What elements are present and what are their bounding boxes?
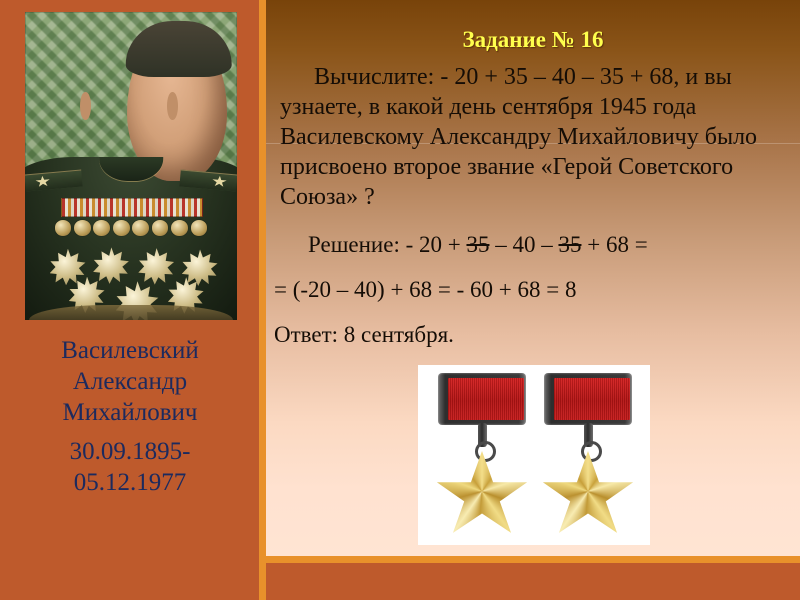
medal-disc-icon: [132, 220, 149, 236]
solution-middle: – 40 –: [489, 232, 558, 257]
solution-suffix: + 68 =: [581, 232, 647, 257]
person-name-caption: Василевский Александр Михайлович: [10, 335, 250, 428]
medal-suspension-bar: [544, 373, 632, 425]
order-star-icon: [138, 248, 175, 285]
epaulette-star-icon: [211, 175, 227, 188]
medal-suspension-bar: [438, 373, 526, 425]
portrait-ear-left: [80, 92, 91, 120]
medal-ring: [581, 441, 602, 462]
medal-disc-icon: [93, 220, 110, 236]
medal-disc-icon: [152, 220, 169, 236]
vertical-divider: [259, 0, 266, 600]
gold-star-icon: [541, 451, 635, 539]
gold-star-medal-first: [434, 373, 530, 537]
epaulette-star-icon: [35, 175, 51, 188]
gold-star-medal-second: [540, 373, 636, 537]
person-name-line: Михайлович: [10, 397, 250, 428]
page-title: Задание № 16: [266, 27, 800, 53]
presentation-slide: Василевский Александр Михайлович 30.09.1…: [0, 0, 800, 600]
medal-ribbon-bar: [61, 198, 203, 217]
portrait-photo: [25, 12, 237, 320]
solution-line-2: = (-20 – 40) + 68 = - 60 + 68 = 8: [274, 275, 786, 304]
problem-statement: Вычислите: - 20 + 35 – 40 – 35 + 68, и в…: [280, 62, 792, 212]
order-stars-group: [46, 246, 220, 314]
portrait-ear-right: [167, 92, 178, 120]
medal-discs-row: [55, 220, 208, 240]
person-name-line: Василевский: [10, 335, 250, 366]
person-dates-line: 05.12.1977: [10, 467, 250, 498]
gold-star-icon: [435, 451, 529, 539]
solution-prefix: Решение: - 20 +: [308, 232, 466, 257]
medal-disc-icon: [191, 220, 208, 236]
answer-line: Ответ: 8 сентября.: [274, 320, 786, 349]
struck-number: 35: [558, 232, 581, 257]
medal-disc-icon: [55, 220, 72, 236]
order-star-icon: [93, 247, 130, 284]
struck-number: 35: [466, 232, 489, 257]
medal-disc-icon: [74, 220, 91, 236]
person-dates-caption: 30.09.1895- 05.12.1977: [10, 436, 250, 498]
medal-ring: [475, 441, 496, 462]
medal-disc-icon: [113, 220, 130, 236]
person-name-line: Александр: [10, 366, 250, 397]
solution-line-1: Решение: - 20 + 35 – 40 – 35 + 68 =: [280, 230, 792, 259]
person-dates-line: 30.09.1895-: [10, 436, 250, 467]
medal-red-ribbon: [448, 378, 524, 420]
medal-red-ribbon: [554, 378, 630, 420]
sidebar-panel: Василевский Александр Михайлович 30.09.1…: [0, 0, 259, 600]
medal-disc-icon: [171, 220, 188, 236]
order-star-icon: [50, 249, 87, 286]
bottom-bar: [266, 563, 800, 600]
content-panel: Задание № 16 Вычислите: - 20 + 35 – 40 –…: [266, 0, 800, 556]
bottom-accent-line: [266, 556, 800, 563]
gold-star-medals-photo: [418, 365, 650, 545]
